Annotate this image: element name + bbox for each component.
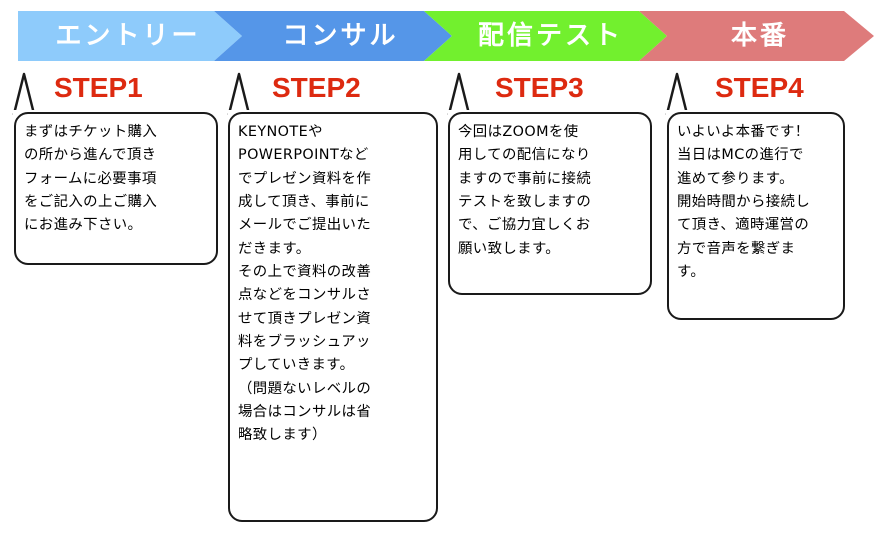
step-heading-2: STEP2: [272, 72, 361, 104]
process-banner: [18, 11, 874, 61]
step-heading-4: STEP4: [715, 72, 804, 104]
step-description-box-3: [448, 112, 652, 295]
step-heading-1: STEP1: [54, 72, 143, 104]
banner-segment-2-shape: [424, 11, 667, 61]
step-description-box-4: [667, 112, 845, 320]
step-heading-3: STEP3: [495, 72, 584, 104]
banner-segment-0-shape: [18, 11, 242, 61]
step-description-box-1: [14, 112, 218, 265]
step-description-box-2: [228, 112, 438, 522]
banner-segment-3-shape: [639, 11, 874, 61]
banner-segment-1-shape: [214, 11, 452, 61]
banner-chevron-shapes: [18, 11, 874, 61]
